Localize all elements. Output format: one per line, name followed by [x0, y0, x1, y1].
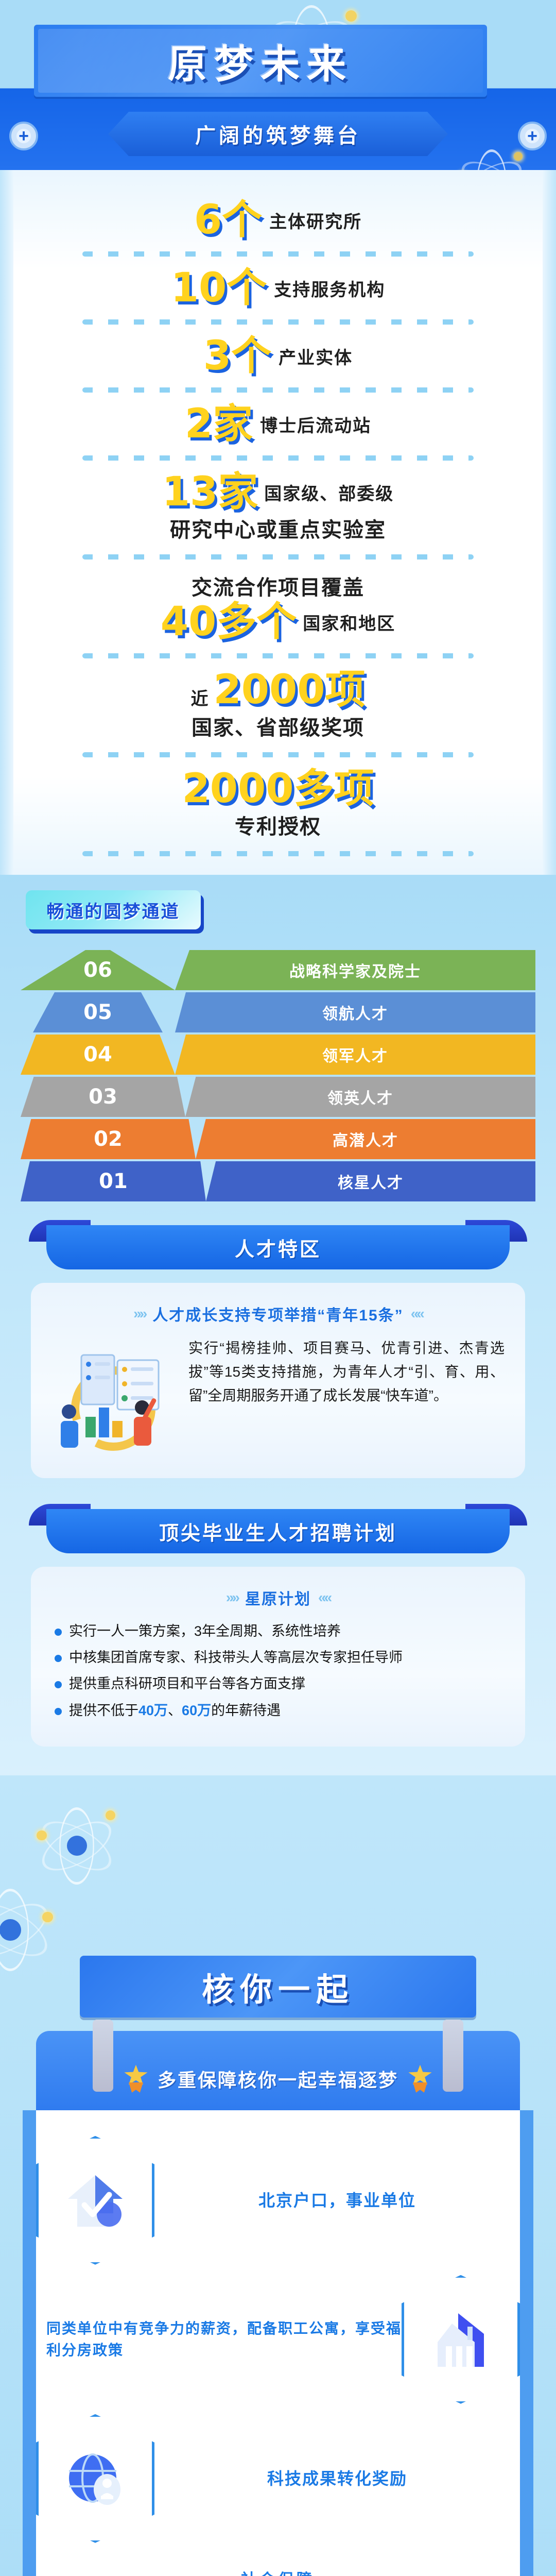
stat-number: 6个: [194, 200, 262, 240]
bullet-text-suffix: 的年薪待遇: [211, 1703, 281, 1718]
together-title: 核你一起: [202, 1963, 354, 2010]
together-ribbon-row: 多重保障核你一起幸福逐梦: [36, 2065, 520, 2093]
stat-label: 博士后流动站: [260, 412, 371, 437]
bullet-text-prefix: 提供不低于: [69, 1703, 138, 1718]
recruit-plan-panel: »» 星原计划 «« 实行一人一策方案，3年全周期、系统性培养 中核集团首席专家…: [31, 1567, 525, 1747]
together-ribbon-text: 多重保障核你一起幸福逐梦: [158, 2065, 398, 2092]
bullet-text-separator: 、: [168, 1703, 182, 1718]
chevron-right-icon: »: [228, 2570, 234, 2576]
gear-icon-left: +: [9, 122, 38, 150]
atom-icon: [0, 1889, 51, 1971]
dotted-divider: [82, 554, 474, 560]
subtitle-ribbon: 广阔的筑梦舞台: [108, 112, 448, 156]
together-ribbon-card: 多重保障核你一起幸福逐梦: [36, 2031, 520, 2110]
dotted-divider: [82, 455, 474, 461]
stat-prefix: 交流合作项目覆盖: [192, 571, 364, 601]
subtitle-bar: + 广阔的筑梦舞台 +: [0, 98, 556, 170]
stat-number: 2000项: [213, 670, 365, 710]
bullet-text: 提供重点科研项目和平台等各方面支撑: [69, 1676, 305, 1691]
benefit-label: 同类单位中有竞争力的薪资，配备职工公寓，享受福利分房政策: [36, 2318, 402, 2361]
dotted-divider: [82, 387, 474, 393]
infographic-page: 原梦未来 + 广阔的筑梦舞台 + 6个 主体研究所 10个 支持服务机构 3个 …: [0, 0, 556, 2576]
atom-icon: [38, 1807, 115, 1885]
stat-number: 13家: [162, 472, 258, 512]
benefit-label: 科技成果转化奖励: [154, 2466, 520, 2491]
stat-row: 近 2000项 国家、省部级奖项: [0, 662, 556, 749]
pyramid-level: 03 领英人才: [21, 1077, 535, 1117]
stat-label: 主体研究所: [269, 208, 362, 233]
recruit-plan-subtitle: 星原计划: [245, 1586, 311, 1609]
pyramid-level-number: 02: [94, 1127, 123, 1151]
list-item: 提供不低于40万、60万的年薪待遇: [51, 1700, 505, 1722]
channel-section: 畅通的圆梦通道 06 战略科学家及院士 05 领航人才: [0, 875, 556, 1775]
section-tag-label: 畅通的圆梦通道: [47, 897, 180, 923]
globe-person-icon: [36, 2414, 154, 2543]
medal-icon-left: [124, 2065, 148, 2093]
salary-value-1: 40万: [138, 1703, 168, 1718]
right-rail: [520, 2110, 533, 2576]
left-rail: [23, 2110, 36, 2576]
recruit-plan-header: 顶尖毕业生人才招聘计划: [26, 1504, 530, 1553]
medal-icon-right: [408, 2065, 432, 2093]
chevron-left-icon: «: [322, 2570, 328, 2576]
list-item: 提供重点科研项目和平台等各方面支撑: [51, 1673, 505, 1695]
gear-icon-right: +: [518, 122, 547, 150]
recruit-plan-title: 顶尖毕业生人才招聘计划: [159, 1517, 397, 1546]
stat-number: 3个: [203, 336, 271, 376]
stat-row: 3个 产业实体: [0, 328, 556, 384]
talent-zone-panel: »» 人才成长支持专项举措“青年15条” ««: [31, 1283, 525, 1478]
stat-row: 2家 博士后流动站: [0, 396, 556, 452]
benefit-head-row: » 社会保障 «: [36, 2567, 520, 2576]
pyramid-level-name: 战略科学家及院士: [289, 959, 421, 981]
stat-row: 13家 国家级、部委级 研究中心或重点实验室: [0, 464, 556, 551]
stat-number: 10个: [171, 268, 267, 308]
dotted-divider: [82, 752, 474, 757]
benefit-row: 北京户口，事业单位: [36, 2131, 520, 2270]
stat-prefix: 近: [190, 685, 208, 710]
dotted-divider: [82, 851, 474, 856]
benefit-head: 社会保障: [241, 2567, 315, 2576]
stat-label: 国家和地区: [303, 609, 395, 635]
bullet-text: 实行一人一策方案，3年全周期、系统性培养: [69, 1623, 341, 1639]
together-title-plate: 核你一起: [80, 1956, 476, 2018]
teamwork-illustration: [51, 1336, 180, 1458]
benefit-label: 北京户口，事业单位: [154, 2188, 520, 2213]
salary-value-2: 60万: [182, 1703, 211, 1718]
list-item: 中核集团首席专家、科技带头人等高层次专家担任导师: [51, 1647, 505, 1669]
benefit-row: 同类单位中有竞争力的薪资，配备职工公寓，享受福利分房政策: [36, 2270, 520, 2409]
pyramid-level-name: 领军人才: [322, 1043, 388, 1066]
pyramid-level-name: 高潜人才: [333, 1128, 398, 1150]
pyramid-level-number: 04: [83, 1043, 112, 1066]
pyramid-level-number: 06: [83, 958, 112, 982]
stat-label: 产业实体: [279, 344, 353, 369]
building-icon: [402, 2275, 520, 2404]
page-subtitle: 广阔的筑梦舞台: [195, 119, 361, 149]
benefits-panel: 北京户口，事业单位: [36, 2110, 520, 2576]
stat-row: 2000多项 专利授权: [0, 760, 556, 848]
talent-zone-subtitle: 人才成长支持专项举措“青年15条”: [152, 1302, 403, 1325]
pyramid-level: 01 核星人才: [21, 1161, 535, 1201]
title-plate: 原梦未来: [34, 25, 487, 97]
bullet-text: 中核集团首席专家、科技带头人等高层次专家担任导师: [69, 1650, 403, 1665]
pyramid-level: 05 领航人才: [21, 992, 535, 1032]
benefit-row: 科技成果转化奖励: [36, 2409, 520, 2548]
stat-row: 6个 主体研究所: [0, 192, 556, 248]
talent-zone-paragraph: 实行“揭榜挂帅、项目赛马、优青引进、杰青选拔”等15类支持措施，为青年人才“引、…: [188, 1336, 505, 1408]
recruit-plan-bullets: 实行一人一策方案，3年全周期、系统性培养 中核集团首席专家、科技带头人等高层次专…: [51, 1620, 505, 1722]
stat-number: 40多个: [161, 602, 297, 642]
pyramid-level: 04 领军人才: [21, 1035, 535, 1075]
pyramid-level-number: 03: [89, 1085, 117, 1109]
recruit-plan-subtitle-row: »» 星原计划 ««: [51, 1586, 505, 1609]
stat-row: 交流合作项目覆盖 40多个 国家和地区: [0, 563, 556, 650]
chevron-left-icon: ««: [411, 1306, 423, 1322]
talent-zone-header: 人才特区: [26, 1220, 530, 1269]
stat-number: 2家: [185, 404, 253, 444]
dotted-divider: [82, 319, 474, 325]
list-item: 实行一人一策方案，3年全周期、系统性培养: [51, 1620, 505, 1642]
talent-zone-subtitle-row: »» 人才成长支持专项举措“青年15条” ««: [51, 1302, 505, 1325]
stat-label-line2: 专利授权: [235, 810, 321, 840]
pyramid-level-name: 领英人才: [327, 1086, 393, 1108]
chevron-right-icon: »»: [226, 1589, 238, 1606]
chevron-left-icon: ««: [318, 1589, 330, 1606]
dotted-divider: [82, 251, 474, 257]
pyramid-level-name: 领航人才: [322, 1001, 388, 1024]
stat-number: 2000多项: [182, 769, 374, 809]
house-check-icon: [36, 2136, 154, 2265]
talent-zone-title: 人才特区: [235, 1233, 321, 1262]
pyramid-level: 06 战略科学家及院士: [21, 950, 535, 990]
dotted-divider: [82, 653, 474, 658]
pyramid-level: 02 高潜人才: [21, 1119, 535, 1159]
stat-label: 支持服务机构: [274, 276, 385, 301]
section-tag-channel: 畅通的圆梦通道: [26, 890, 201, 929]
pyramid-level-number: 05: [83, 1001, 112, 1024]
talent-pyramid: 06 战略科学家及院士 05 领航人才 04: [21, 950, 535, 1192]
hero-banner: 原梦未来 + 广阔的筑梦舞台 +: [0, 0, 556, 170]
benefits-list: » 社会保障 « 中央养老保险、职业年金、公费医疗等 » 培训体系 « 入职培训…: [36, 2548, 520, 2576]
pyramid-level-name: 核星人才: [338, 1170, 404, 1193]
pyramid-level-number: 01: [99, 1170, 128, 1193]
chevron-right-icon: »»: [133, 1306, 145, 1322]
stats-section: 6个 主体研究所 10个 支持服务机构 3个 产业实体 2家 博士后流动站 13…: [0, 170, 556, 875]
stat-label-line2: 国家、省部级奖项: [192, 711, 364, 741]
stat-row: 10个 支持服务机构: [0, 260, 556, 316]
stat-label: 国家级、部委级: [264, 480, 394, 505]
together-section: 核你一起 多重保障核你一起幸福逐梦: [0, 1775, 556, 2576]
stat-label-line2: 研究中心或重点实验室: [170, 513, 386, 543]
page-title: 原梦未来: [168, 32, 353, 89]
